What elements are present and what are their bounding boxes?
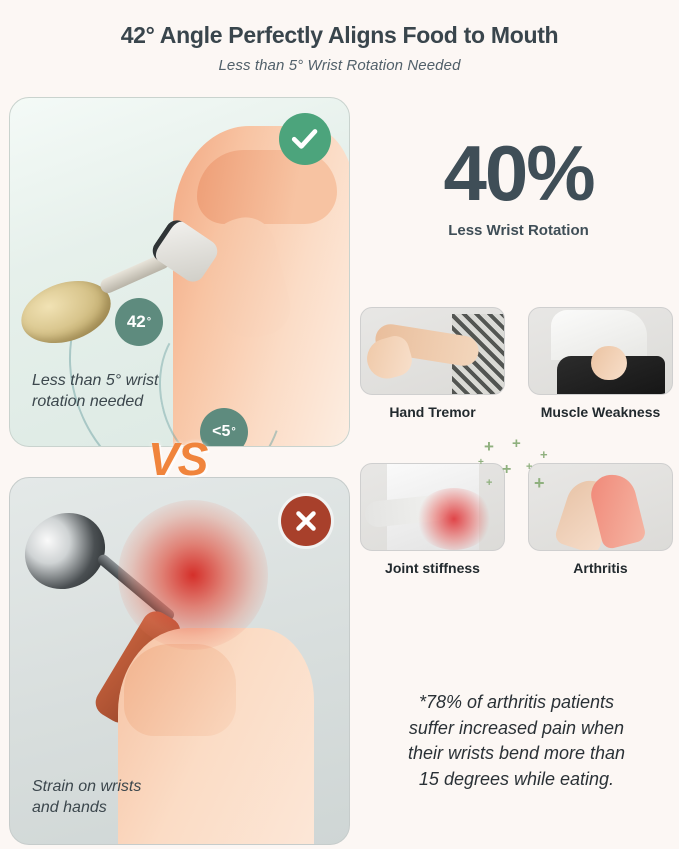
vs-badge: VS xyxy=(148,432,207,486)
condition-label: Muscle Weakness xyxy=(528,404,673,421)
hand-illustration-bad xyxy=(118,628,314,845)
plus-icon: + xyxy=(486,478,492,489)
statistic-label: Less Wrist Rotation xyxy=(358,222,679,239)
footnote-line-2: suffer increased pain when xyxy=(360,716,673,742)
muscle-weakness-photo xyxy=(528,307,673,395)
angle-badge-42: 42 ° xyxy=(115,298,163,346)
angle-5-unit: ° xyxy=(231,426,235,438)
plus-icon: + xyxy=(512,436,521,451)
condition-label: Arthritis xyxy=(528,560,673,577)
check-circle-icon xyxy=(279,113,331,165)
condition-label: Joint stiffness xyxy=(360,560,505,577)
angle-42-value: 42 xyxy=(127,312,146,332)
footnote-line-1: *78% of arthritis patients xyxy=(360,690,673,716)
condition-cell-hand-tremor: Hand Tremor xyxy=(360,307,505,421)
plus-decoration-cluster: + + + + + + + + xyxy=(478,436,558,494)
x-circle-icon xyxy=(281,496,331,546)
elbow-pain-glow xyxy=(415,488,493,550)
plus-icon: + xyxy=(526,462,532,473)
page-subtitle: Less than 5° Wrist Rotation Needed xyxy=(0,57,679,74)
bad-caption-line-2: and hands xyxy=(32,797,141,818)
infographic-page: 42° Angle Perfectly Aligns Food to Mouth… xyxy=(0,0,679,849)
condition-cell-muscle-weakness: Muscle Weakness xyxy=(528,307,673,421)
resting-hands-shape xyxy=(591,346,627,380)
spoon-bowl-steel xyxy=(11,498,119,603)
statistic-block: 40% Less Wrist Rotation xyxy=(358,136,679,239)
good-caption-line-2: rotation needed xyxy=(32,391,158,412)
plus-icon: + xyxy=(540,448,548,461)
hand-tremor-photo xyxy=(360,307,505,395)
bad-caption-line-1: Strain on wrists xyxy=(32,776,141,797)
fingers-shape xyxy=(124,644,236,736)
statistic-value: 40% xyxy=(358,136,679,210)
footnote-line-3: their wrists bend more than xyxy=(360,741,673,767)
good-posture-panel: 42 ° <5 ° Less than 5° wrist rotation ne… xyxy=(9,97,350,447)
bad-panel-caption: Strain on wrists and hands xyxy=(32,776,141,818)
good-panel-caption: Less than 5° wrist rotation needed xyxy=(32,370,158,412)
footnote-line-4: 15 degrees while eating. xyxy=(360,767,673,793)
header: 42° Angle Perfectly Aligns Food to Mouth… xyxy=(0,22,679,74)
good-caption-line-1: Less than 5° wrist xyxy=(32,370,158,391)
angle-42-unit: ° xyxy=(147,316,151,328)
plus-icon: + xyxy=(502,462,511,478)
angle-5-value: <5 xyxy=(212,423,230,441)
wrist-pain-glow xyxy=(118,500,268,650)
plus-icon: + xyxy=(534,474,545,492)
footnote: *78% of arthritis patients suffer increa… xyxy=(360,690,673,792)
condition-label: Hand Tremor xyxy=(360,404,505,421)
plus-icon: + xyxy=(484,438,494,455)
plus-icon: + xyxy=(478,458,484,468)
page-title: 42° Angle Perfectly Aligns Food to Mouth xyxy=(0,22,679,50)
